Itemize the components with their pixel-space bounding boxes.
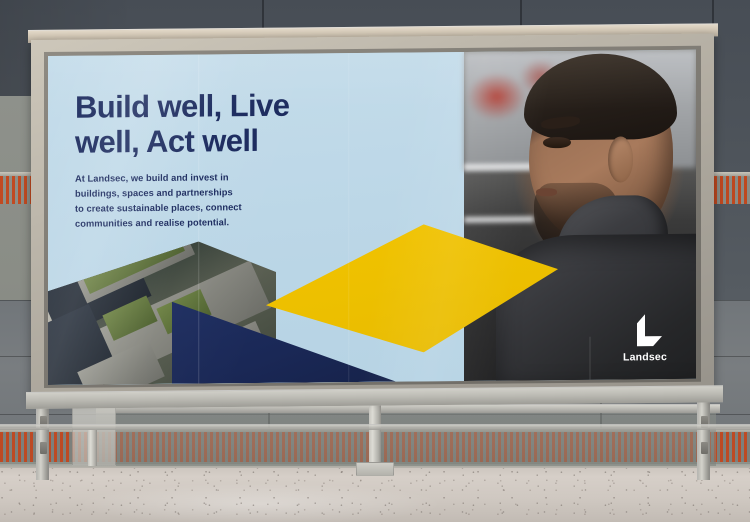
landsec-wordmark: Landsec xyxy=(618,351,672,364)
landsec-l-mark xyxy=(628,314,662,346)
headline-line-1: Build well, Live xyxy=(75,87,375,125)
headline-line-2: well, Act well xyxy=(75,122,375,160)
jacket-seam xyxy=(589,336,591,379)
billboard-scene: Build well, Live well, Act well At Lands… xyxy=(0,0,750,522)
landsec-poster[interactable]: Build well, Live well, Act well At Lands… xyxy=(48,50,696,385)
portrait-lips xyxy=(536,188,557,197)
support-backplate xyxy=(96,404,716,466)
support-leg-left xyxy=(36,398,49,480)
landsec-logo: Landsec xyxy=(618,314,672,364)
poster-headline: Build well, Live well, Act well xyxy=(75,87,375,161)
poster-body-copy: At Landsec, we build and invest in build… xyxy=(75,170,305,232)
leg-bolt xyxy=(40,442,47,454)
body-line-4: communities and realise potential. xyxy=(75,215,305,232)
horizontal-rail xyxy=(0,424,750,430)
blurred-shelf xyxy=(464,216,534,223)
support-leg-right xyxy=(697,396,710,480)
portrait-ear xyxy=(608,136,634,182)
center-post-foot xyxy=(356,462,394,476)
support-bolt-shaft xyxy=(88,430,97,466)
leg-bolt xyxy=(701,442,708,454)
